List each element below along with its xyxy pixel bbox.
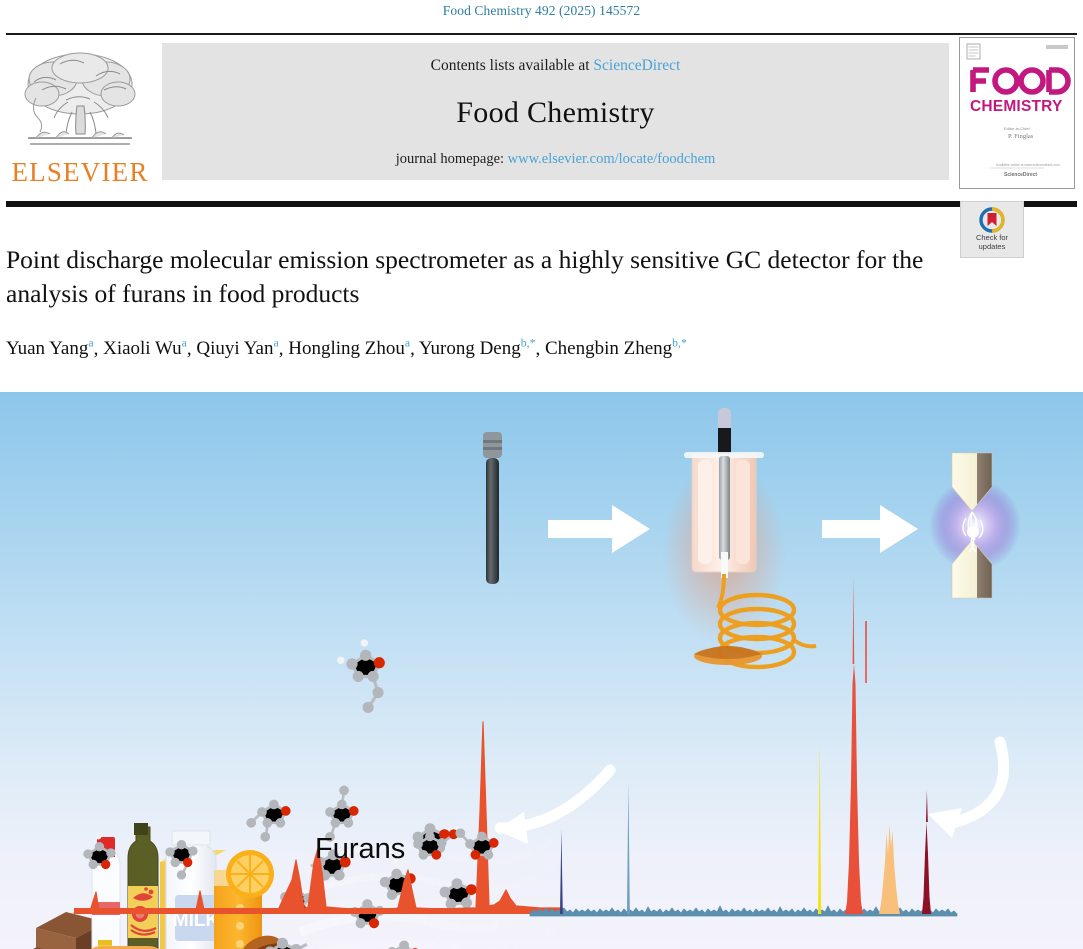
author-name: Yuan Yang [6, 338, 88, 359]
coffee-decor [694, 646, 762, 665]
curved-arrow-right [928, 742, 1004, 838]
author-item[interactable]: Yuan Yanga [6, 338, 94, 359]
label-furans: Furans [315, 833, 405, 866]
journal-cover[interactable]: CHEMISTRY Editor-in-Chief P. Finglas Ava… [957, 35, 1077, 190]
elsevier-logo: ELSEVIER [6, 35, 154, 190]
food-illustration: MILK [28, 823, 312, 949]
author-affiliation-marker[interactable]: b,* [521, 337, 536, 350]
article-header: Check forupdates Point discharge molecul… [0, 207, 1083, 360]
author-affiliation-marker[interactable]: a [405, 337, 410, 350]
journal-homepage-link[interactable]: www.elsevier.com/locate/foodchem [508, 151, 716, 167]
author-name: Qiuyi Yan [196, 338, 273, 359]
author-affiliation-marker[interactable]: b,* [672, 337, 687, 350]
svg-text:ScienceDirect: ScienceDirect [1004, 172, 1037, 178]
author-item[interactable]: Hongling Zhoua [288, 338, 410, 359]
author-affiliation-marker[interactable]: a [88, 337, 93, 350]
masthead-center: Contents lists available at ScienceDirec… [162, 43, 949, 180]
crossmark-line2: updates [979, 242, 1006, 251]
graphical-abstract: MILK [0, 392, 1083, 949]
homepage-line: journal homepage: www.elsevier.com/locat… [396, 151, 716, 168]
sciencedirect-link[interactable]: ScienceDirect [593, 57, 680, 74]
hs-spme-device [483, 432, 502, 584]
author-item[interactable]: Qiuyi Yana [196, 338, 278, 359]
contents-line: Contents lists available at ScienceDirec… [431, 57, 681, 75]
author-name: Hongling Zhou [288, 338, 405, 359]
running-head: Food Chemistry 492 (2025) 145572 [0, 0, 1083, 19]
homepage-prefix: journal homepage: [396, 151, 508, 167]
author-name: Chengbin Zheng [545, 338, 672, 359]
elsevier-wordmark: ELSEVIER [11, 159, 148, 186]
gc-instrument [662, 408, 816, 667]
curved-arrow-left [496, 770, 610, 844]
process-arrow-1 [548, 505, 650, 553]
cover-editor-label: Editor-in-Chief [1004, 126, 1030, 131]
crossmark-icon [979, 207, 1005, 233]
author-affiliation-marker[interactable]: a [273, 337, 278, 350]
journal-title: Food Chemistry [456, 96, 654, 130]
author-name: Xiaoli Wu [103, 338, 182, 359]
author-item[interactable]: Xiaoli Wua [103, 338, 187, 359]
author-name: Yurong Deng [419, 338, 521, 359]
cover-editor-name: P. Finglas [1008, 133, 1034, 140]
svg-text:CHEMISTRY: CHEMISTRY [970, 98, 1063, 115]
process-arrow-2 [822, 505, 918, 553]
author-affiliation-marker[interactable]: a [182, 337, 187, 350]
svg-text:Available online at www.scienc: Available online at www.sciencedirect.co… [996, 163, 1060, 167]
pd-mes-device [929, 453, 1021, 598]
author-list: Yuan Yanga, Xiaoli Wua, Qiuyi Yana, Hong… [6, 337, 1077, 360]
elsevier-tree-icon [20, 46, 140, 158]
page-title: Point discharge molecular emission spect… [6, 243, 936, 311]
author-item[interactable]: Chengbin Zhengb,* [545, 338, 687, 359]
journal-masthead: ELSEVIER Contents lists available at Sci… [6, 33, 1077, 195]
contents-prefix: Contents lists available at [431, 57, 594, 74]
crossmark-badge[interactable]: Check forupdates [960, 201, 1024, 258]
author-item[interactable]: Yurong Dengb,* [419, 338, 536, 359]
